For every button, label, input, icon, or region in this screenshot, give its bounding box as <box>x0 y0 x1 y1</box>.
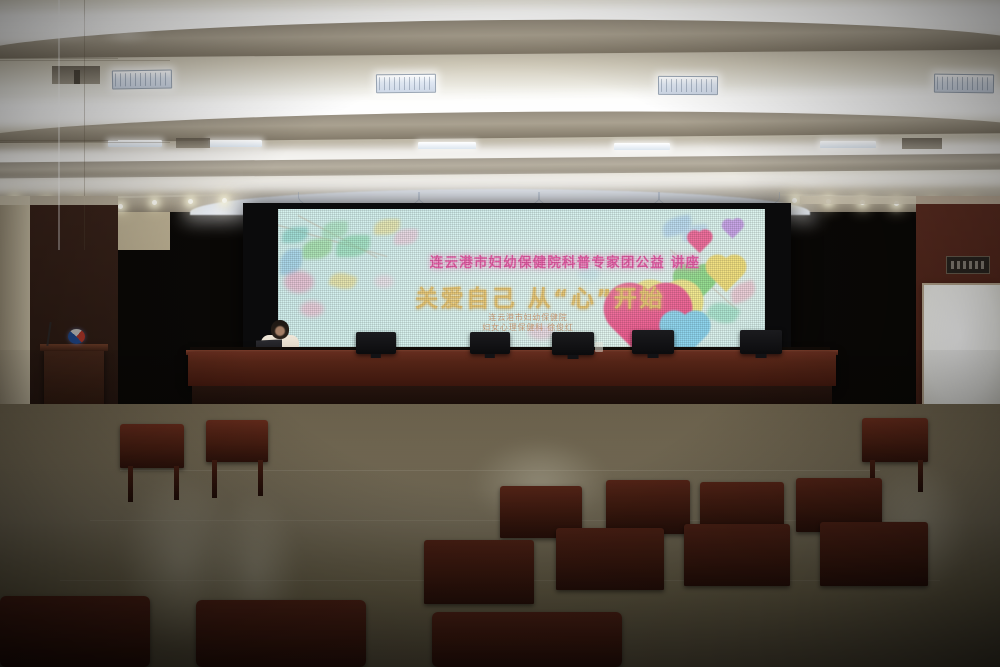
ceiling-troffer-light <box>934 74 994 94</box>
slide-title-line: 连云港市妇幼保健院科普专家团公益 讲座 <box>360 251 765 271</box>
wall-sign <box>946 256 990 274</box>
ceiling-spotlight <box>222 198 227 203</box>
ceiling-troffer-light <box>820 141 876 148</box>
ceiling-troffer-light <box>614 143 670 150</box>
chair-leg <box>212 460 217 498</box>
desk-monitor <box>552 332 594 355</box>
presenter-face <box>275 326 285 336</box>
ceiling-troffer-light <box>208 140 262 147</box>
auditorium-chair <box>684 524 790 586</box>
slide-headline: 关爱自己 从“心”开始 <box>330 279 750 313</box>
ceiling-troffer-light <box>658 76 718 95</box>
ceiling-spotlight <box>792 198 797 203</box>
auditorium-chair <box>820 522 928 586</box>
auditorium-chair <box>432 612 622 667</box>
auditorium-chair <box>556 528 664 590</box>
slide-byline-line1: 连云港市妇幼保健院 <box>398 313 658 323</box>
head-table <box>188 352 836 386</box>
led-presentation-screen: 连云港市妇幼保健院科普专家团公益 讲座 关爱自己 从“心”开始 连云港市妇幼保健… <box>278 209 765 347</box>
desk-monitor <box>632 330 674 354</box>
slide-leaf-graphic <box>394 229 418 245</box>
slide-heart-graphic <box>723 220 741 238</box>
auditorium-chair <box>606 480 690 534</box>
ceiling-air-vent <box>902 138 942 149</box>
chair-leg <box>128 466 133 502</box>
institution-emblem-icon <box>68 329 85 344</box>
ceiling-spotlight <box>152 200 157 205</box>
whiteboard <box>922 283 1000 415</box>
ceiling-air-vent <box>176 138 210 148</box>
ceiling-spotlight <box>188 199 193 204</box>
chair-leg <box>918 460 923 492</box>
ceiling-troffer-light <box>418 142 476 149</box>
ceiling-air-vent-slat <box>74 70 80 84</box>
auditorium-chair <box>120 424 184 468</box>
desk-cup <box>595 342 603 352</box>
slide-byline-line2: 妇女心理保健科 徐俊红 <box>398 323 658 333</box>
auditorium-chair <box>424 540 534 604</box>
lectern-top <box>40 344 108 351</box>
desk-monitor <box>470 332 510 354</box>
slide-leaf-graphic <box>302 239 332 259</box>
chair-leg <box>258 460 263 496</box>
auditorium-chair <box>862 418 928 462</box>
slide-blob-graphic <box>284 271 314 293</box>
ceiling-troffer-light <box>376 74 436 94</box>
photo-scene: 连云港市妇幼保健院科普专家团公益 讲座 关爱自己 从“心”开始 连云港市妇幼保健… <box>0 0 1000 667</box>
auditorium-chair <box>0 596 150 667</box>
ceiling-spotlight <box>118 204 123 209</box>
desk-monitor <box>740 330 782 354</box>
auditorium-chair <box>196 600 366 667</box>
ceiling-troffer-light <box>112 69 172 89</box>
slide-leaf-graphic <box>282 227 308 243</box>
chair-leg <box>174 466 179 500</box>
slide-blob-graphic <box>300 301 324 317</box>
slide-byline: 连云港市妇幼保健院 妇女心理保健科 徐俊红 <box>398 313 658 333</box>
auditorium-chair <box>206 420 268 462</box>
wall-cap-right <box>800 196 1000 204</box>
desk-monitor <box>356 332 396 354</box>
slide-heart-graphic <box>689 232 710 253</box>
